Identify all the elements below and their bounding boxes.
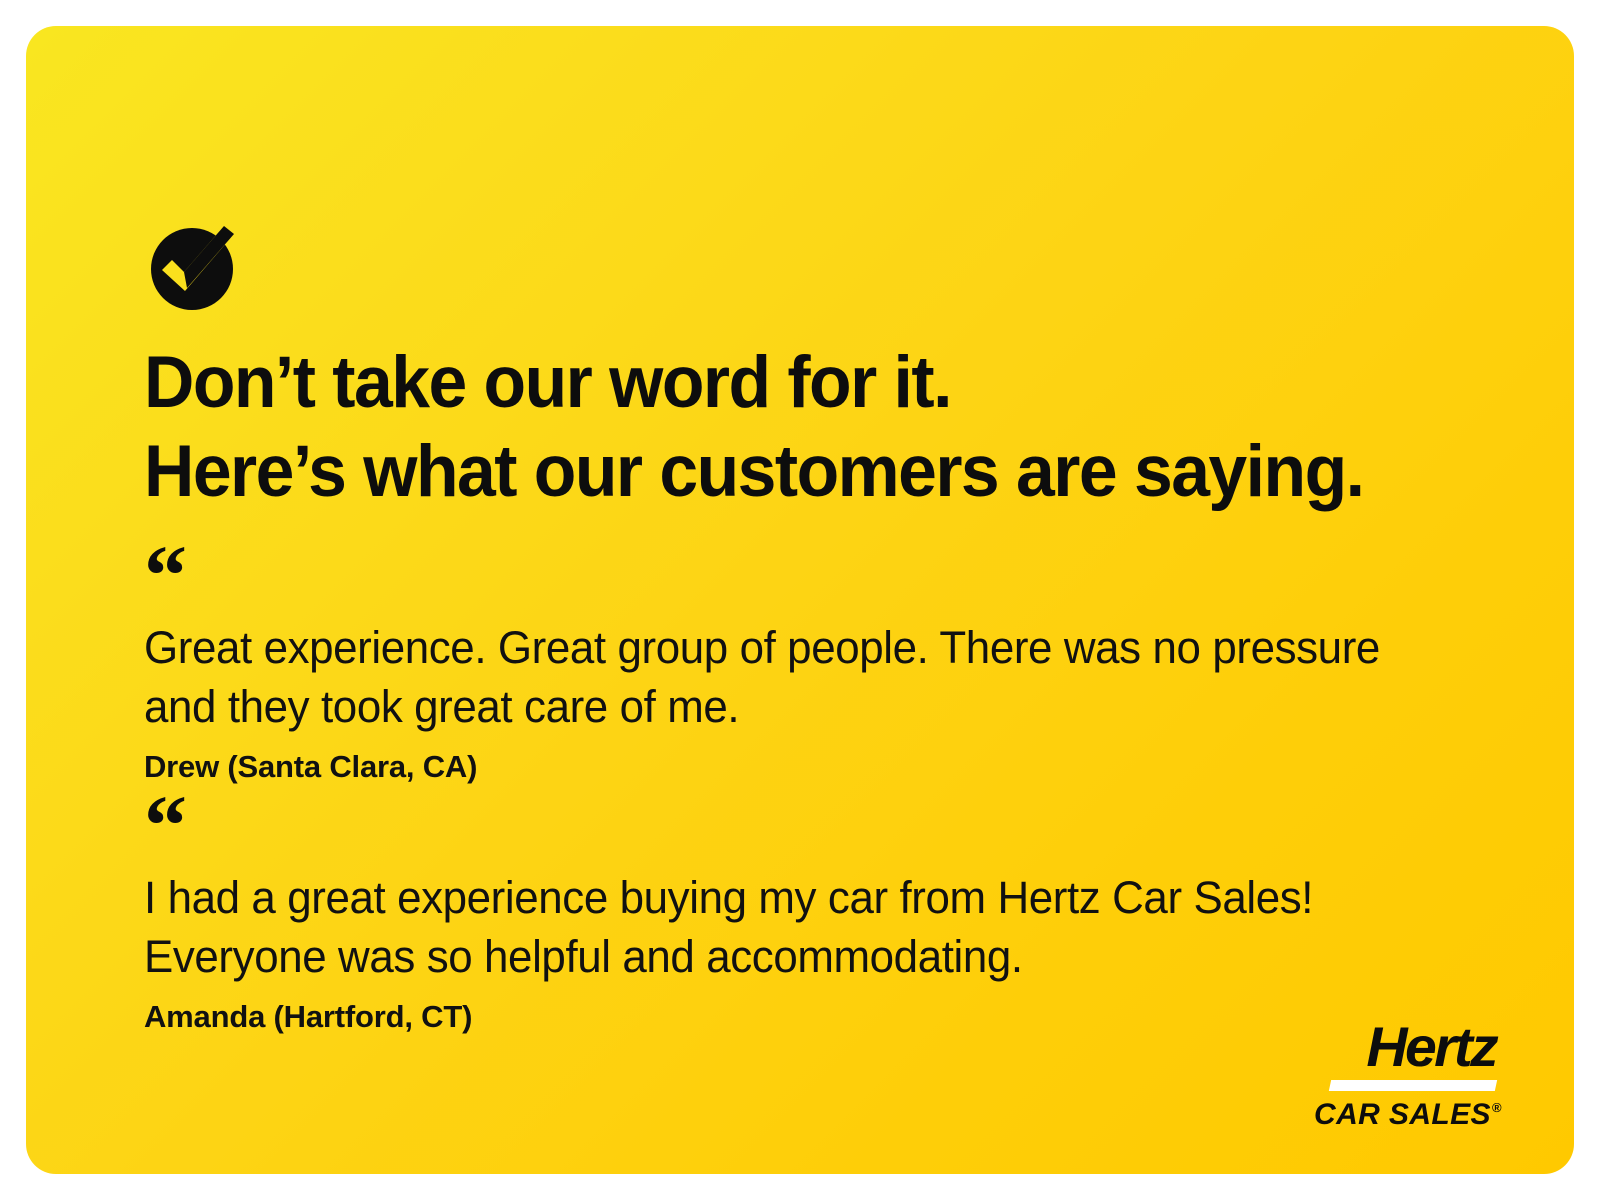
testimonial-item: “ I had a great experience buying my car…: [144, 804, 1494, 1037]
page-title: Don’t take our word for it. Here’s what …: [144, 338, 1484, 516]
testimonial-quote: Great experience. Great group of people.…: [144, 618, 1460, 736]
hertz-car-sales-logo: Hertz CAR SALES®: [1314, 1018, 1496, 1122]
logo-underline-bar: [1329, 1080, 1497, 1091]
logo-subtitle-row: CAR SALES®: [1314, 1098, 1496, 1132]
testimonial-card: Don’t take our word for it. Here’s what …: [26, 26, 1574, 1174]
testimonial-item: “ Great experience. Great group of peopl…: [144, 554, 1494, 787]
headline-line-1: Don’t take our word for it.: [144, 338, 1424, 427]
headline-line-2: Here’s what our customers are saying.: [144, 427, 1424, 516]
registered-trademark-icon: ®: [1492, 1100, 1502, 1115]
check-circle-icon: [148, 221, 244, 313]
quote-mark-icon: “: [144, 804, 1494, 844]
testimonial-attribution: Drew (Santa Clara, CA): [144, 747, 1494, 787]
quote-mark-icon: “: [144, 554, 1494, 594]
hertz-wordmark: Hertz: [1310, 1018, 1496, 1076]
logo-subtitle: CAR SALES: [1314, 1098, 1491, 1131]
testimonial-quote: I had a great experience buying my car f…: [144, 868, 1460, 986]
testimonial-attribution: Amanda (Hartford, CT): [144, 997, 1494, 1037]
